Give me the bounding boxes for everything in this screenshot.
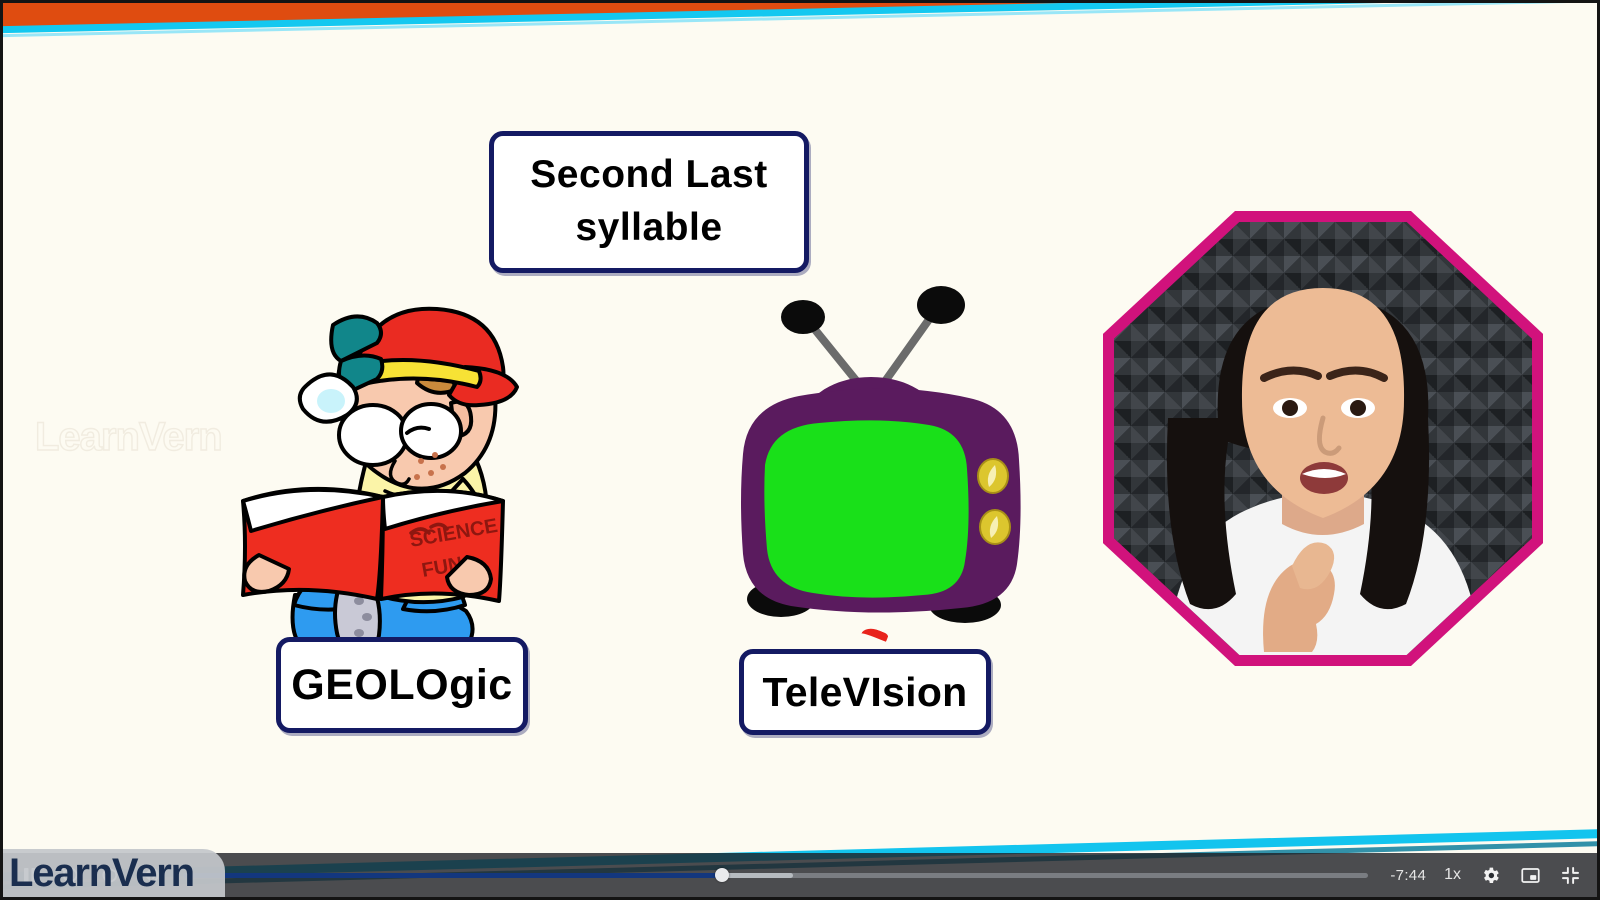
slide-watermark: LearnVern — [35, 415, 222, 460]
title-line-2: syllable — [575, 206, 722, 249]
progress-scrubber-handle[interactable] — [715, 868, 729, 882]
television-caption-box: TeleVIsion — [739, 649, 991, 735]
video-player: LearnVern Second Last syllable — [0, 0, 1600, 900]
rewind-10-button[interactable] — [57, 862, 83, 888]
volume-button[interactable] — [137, 862, 163, 888]
playback-speed-button[interactable]: 1x — [1442, 866, 1463, 884]
progress-played — [183, 873, 722, 878]
television-caption-label: TeleVIsion — [762, 669, 967, 716]
exit-fullscreen-icon[interactable] — [1557, 862, 1583, 888]
presenter-video-overlay — [1103, 211, 1543, 666]
player-controls-bar: -7:44 1x — [3, 853, 1597, 897]
progress-bar[interactable] — [183, 865, 1368, 885]
time-remaining-label: -7:44 — [1388, 867, 1428, 884]
title-line-1: Second Last — [530, 153, 767, 196]
presenter-video-frame — [1114, 222, 1532, 655]
second-last-syllable-box: Second Last syllable — [489, 131, 809, 273]
geologic-caption-box: GEOLOgic — [276, 637, 528, 733]
television-illustration — [703, 269, 1033, 639]
geologic-caption-label: GEOLOgic — [291, 661, 512, 710]
picture-in-picture-icon[interactable] — [1517, 862, 1543, 888]
slide-canvas: LearnVern Second Last syllable — [3, 3, 1597, 897]
presenter-figure — [1114, 222, 1532, 655]
forward-10-button[interactable] — [97, 862, 123, 888]
settings-gear-icon[interactable] — [1477, 862, 1503, 888]
boy-reading-illustration: SCIENCE FUN — [235, 265, 535, 665]
pause-button[interactable] — [17, 862, 43, 888]
